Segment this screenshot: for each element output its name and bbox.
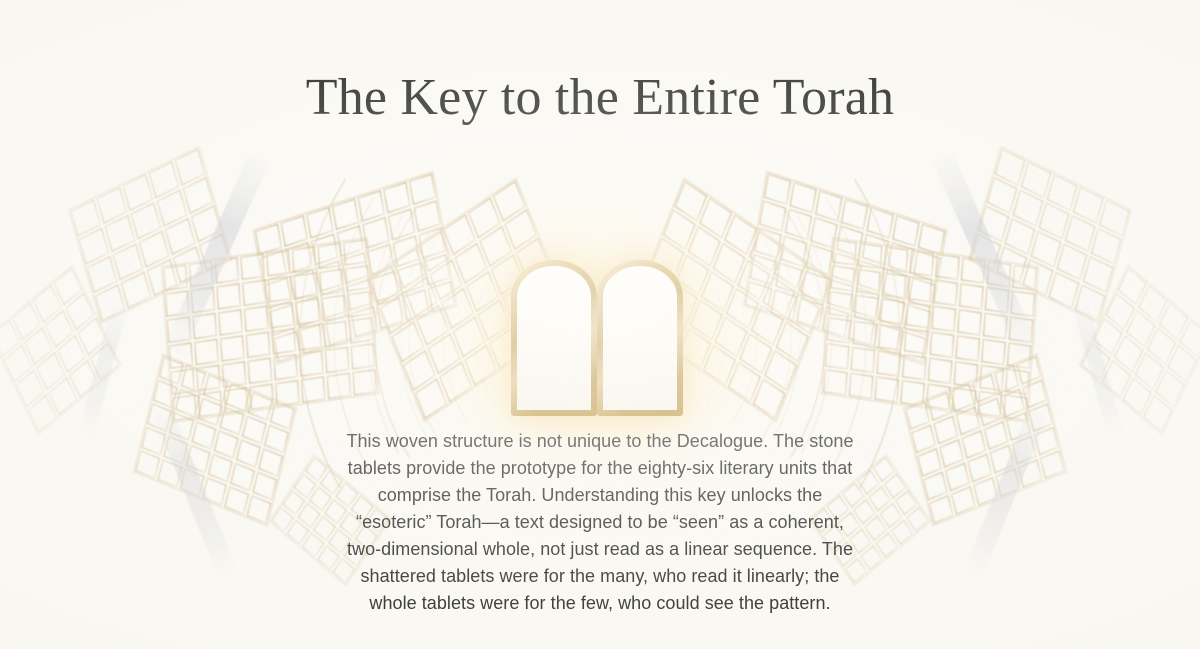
lattice-cell [910,251,933,276]
lattice-cell [928,358,951,383]
lattice-cell [71,200,100,235]
lattice-cell [217,284,240,309]
lattice-cell [987,178,1016,213]
lattice-cell [209,454,232,481]
lattice-cell [105,216,134,251]
lattice-cell [243,416,266,443]
body-line: two-dimensional whole, not just read as … [347,539,853,559]
lattice-cell [274,355,297,380]
lattice-cell [346,266,369,291]
lattice-cell [281,216,307,246]
lattice-cell [267,251,290,276]
lattice-cell [962,431,985,458]
lattice-cell [259,449,282,476]
lattice-cell [912,425,935,452]
lattice-cell [816,191,842,221]
lattice-cell [855,295,878,320]
lattice-cell [320,269,343,294]
tablet-right [600,263,680,413]
lattice-cell [884,247,907,272]
lattice-cell [790,183,816,213]
lattice-cell [410,174,436,204]
lattice-cell [932,306,955,331]
lattice-cell [829,292,852,317]
lattice-cell [157,190,186,225]
lattice-cell [139,231,168,266]
lattice-cell [859,243,882,268]
lattice-cell [351,344,374,369]
lattice-cell [214,431,237,458]
lattice-cell [272,329,295,354]
lattice-cell [192,422,215,449]
lattice-cell [1100,200,1129,235]
lattice-cell [265,425,288,452]
body-paragraph-block: This woven structure is not unique to th… [300,428,900,617]
body-line: “esoteric” Torah—a text designed to be “… [356,512,844,532]
lattice-cell [296,299,319,324]
lattice-cell [414,201,440,231]
page-title: The Key to the Entire Torah [0,69,1200,127]
lattice-cell [221,336,244,361]
lattice-cell [344,240,367,265]
lattice-cell [322,295,345,320]
lattice-cell [183,178,212,213]
lattice-cell [353,370,376,395]
lattice-cell [165,219,194,254]
lattice-cell [318,243,341,268]
lattice-cell [307,208,333,238]
lattice-cell [905,329,928,354]
body-line: tablets provide the prototype for the ei… [348,458,853,478]
lattice-cell [79,229,108,264]
lattice-cell [121,272,150,307]
lattice-cell [149,162,178,197]
lattice-cell [131,203,160,238]
lattice-cell [87,257,116,292]
lattice-cell [831,266,854,291]
lattice-cell [231,463,254,490]
lattice-cell [298,325,321,350]
lattice-cell [358,191,384,221]
lattice-cell [881,299,904,324]
lattice-cell [764,174,790,204]
lattice-cell [827,318,850,343]
lattice-cell [123,175,152,210]
lattice-cell [1091,229,1120,264]
lattice-cell [241,254,264,279]
body-paragraph: This woven structure is not unique to th… [300,428,900,617]
lattice-cell [1005,219,1034,254]
lattice-cell [851,347,874,372]
body-line: shattered tablets were for the many, who… [360,566,839,586]
lattice-cell [243,280,266,305]
lattice-cell [968,454,991,481]
lattice-cell [245,306,268,331]
lattice-cell [833,240,856,265]
lattice-cell [930,332,953,357]
lattice-cell [934,416,957,443]
lattice-cell [960,284,983,309]
lattice-cell [219,310,242,335]
lattice-cell [1039,203,1068,238]
lattice-cell [842,199,868,229]
lattice-cell [384,183,410,213]
lattice-cell [325,347,348,372]
lattice-cell [924,472,947,499]
lattice-cell [1031,231,1060,266]
lattice-cell [760,201,786,231]
lattice-cell [1021,162,1050,197]
lattice-cell [268,277,291,302]
lattice-cell [270,303,293,328]
body-line: This woven structure is not unique to th… [346,431,853,451]
lattice-cell [253,472,276,499]
lattice-cell [857,269,880,294]
lattice-cell [348,292,371,317]
lattice-cell [389,209,415,239]
lattice-cell [246,332,269,357]
lattice-cell [867,208,893,238]
lattice-cell [785,209,811,239]
lattice-cell [956,336,979,361]
lattice-cell [875,377,898,402]
lattice-cell [300,351,323,376]
lattice-cell [879,325,902,350]
lattice-cell [1013,190,1042,225]
lattice-cell [903,355,926,380]
lattice-cell [893,216,919,246]
lattice-cell [237,440,260,467]
lattice-cell [982,340,1005,365]
lattice-cell [248,358,271,383]
body-line: comprise the Torah. Understanding this k… [378,485,823,505]
lattice-cell [363,218,389,248]
lattice-cell [984,422,1007,449]
lattice-cell [936,254,959,279]
lattice-cell [272,507,293,531]
lattice-cell [292,247,315,272]
lattice-cell [934,280,957,305]
lattice-cell [1047,175,1076,210]
lattice-cell [333,199,359,229]
lattice-cell [906,303,929,328]
body-line: whole tablets were for the few, who coul… [369,593,830,613]
lattice-cell [294,273,317,298]
lattice-cell [958,310,981,335]
lattice-cell [113,244,142,279]
lattice-cell [853,321,876,346]
lattice-cell [1083,257,1112,292]
lattice-cell [97,188,126,223]
lattice-cell [327,373,350,398]
lattice-cell [940,440,963,467]
lattice-cell [907,507,928,531]
lattice-cell [946,463,969,490]
lattice-cell [825,344,848,369]
lattice-cell [918,449,941,476]
stone-tablets-icon [510,258,690,418]
lattice-cell [882,273,905,298]
illustration-canvas: The Key to the Entire Torah This woven s… [0,0,1200,649]
lattice-cell [175,149,204,184]
lattice-cell [849,373,872,398]
lattice-cell [824,370,847,395]
lattice-cell [1074,188,1103,223]
lattice-cell [349,318,372,343]
lattice-cell [1049,272,1078,307]
tablet-left [514,263,594,413]
lattice-cell [195,340,218,365]
lattice-cell [995,149,1024,184]
lattice-cell [1057,244,1086,279]
lattice-cell [908,277,931,302]
lattice-cell [877,351,900,376]
lattice-cell [811,218,837,248]
lattice-cell [324,321,347,346]
lattice-cell [302,377,325,402]
lattice-cell [1065,216,1094,251]
